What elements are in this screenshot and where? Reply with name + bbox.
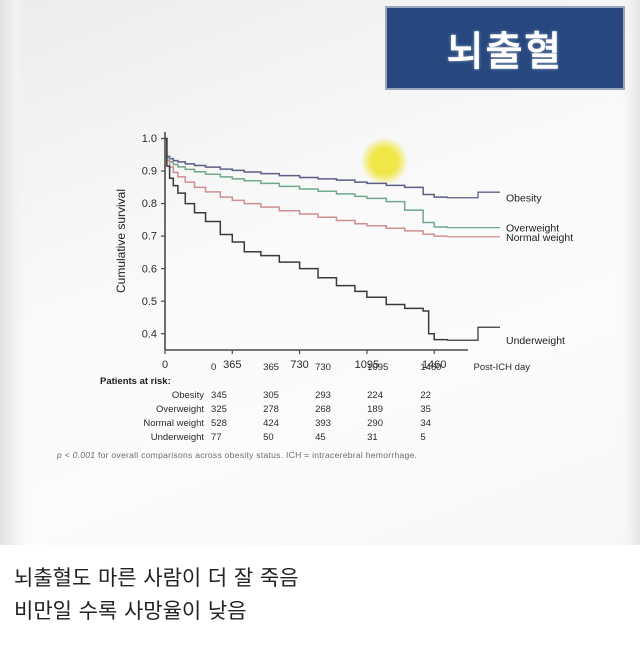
risk-underweight-1095: 31	[367, 430, 420, 444]
patients-at-risk-table: 0 365 730 1095 1460 Post-ICH day Patient…	[100, 360, 570, 444]
figure-card: 뇌출혈 0.40.50.60.70.80.91.0036573010951460…	[0, 0, 640, 545]
legend-leader-obesity	[447, 192, 500, 198]
risk-overweight-365: 278	[263, 402, 315, 416]
y-axis-title: Cumulative survival	[114, 189, 128, 293]
risk-obesity-1460: 22	[420, 388, 473, 402]
legend-leader-underweight	[447, 327, 500, 340]
patients-at-risk-title: Patients at risk:	[100, 374, 530, 388]
risk-underweight-pad	[474, 430, 531, 444]
y-tick-label: 0.4	[142, 328, 157, 340]
risk-header-spacer	[100, 360, 211, 374]
risk-underweight-730: 45	[315, 430, 367, 444]
post-ich-day-label: Post-ICH day	[474, 360, 531, 374]
risk-row-label-normal-weight: Normal weight	[100, 416, 211, 430]
risk-underweight-365: 50	[263, 430, 315, 444]
risk-obesity-730: 293	[315, 388, 367, 402]
risk-col-1460: 1460	[420, 360, 473, 374]
y-tick-label: 0.9	[142, 166, 157, 178]
table-row: Normal weight 528 424 393 290 34	[100, 416, 530, 430]
y-tick-label: 1.0	[142, 133, 157, 145]
risk-overweight-1095: 189	[367, 402, 420, 416]
y-tick-label: 0.5	[142, 296, 157, 308]
y-tick-label: 0.6	[142, 263, 157, 275]
risk-normal-365: 424	[263, 416, 315, 430]
risk-obesity-1095: 224	[367, 388, 420, 402]
risk-normal-1460: 34	[420, 416, 473, 430]
legend-label-obesity: Obesity	[506, 193, 542, 205]
risk-obesity-0: 345	[211, 388, 263, 402]
risk-obesity-365: 305	[263, 388, 315, 402]
footnote-rest: for overall comparisons across obesity s…	[95, 450, 417, 460]
screenshot-root: 뇌출혈 0.40.50.60.70.80.91.0036573010951460…	[0, 0, 640, 647]
risk-table-header-row: 0 365 730 1095 1460 Post-ICH day	[100, 360, 530, 374]
card-left-shade	[0, 0, 26, 545]
figure-footnote: p < 0.001 for overall comparisons across…	[57, 450, 577, 460]
topic-banner: 뇌출혈	[385, 6, 625, 90]
y-tick-label: 0.7	[142, 231, 157, 243]
table-row: Overweight 325 278 268 189 35	[100, 402, 530, 416]
risk-obesity-pad	[474, 388, 531, 402]
risk-overweight-730: 268	[315, 402, 367, 416]
risk-col-365: 365	[263, 360, 315, 374]
y-tick-label: 0.8	[142, 198, 157, 210]
legend-label-normal-weight: Normal weight	[506, 232, 573, 244]
risk-row-label-overweight: Overweight	[100, 402, 211, 416]
caption-line-2: 비만일 수록 사망율이 낮음	[14, 595, 626, 628]
post-caption: 뇌출혈도 마른 사람이 더 잘 죽음 비만일 수록 사망율이 낮음	[14, 562, 626, 628]
risk-normal-1095: 290	[367, 416, 420, 430]
risk-row-label-underweight: Underweight	[100, 430, 211, 444]
risk-normal-0: 528	[211, 416, 263, 430]
risk-normal-pad	[474, 416, 531, 430]
risk-underweight-1460: 5	[420, 430, 473, 444]
risk-overweight-1460: 35	[420, 402, 473, 416]
risk-row-label-obesity: Obesity	[100, 388, 211, 402]
risk-col-0: 0	[211, 360, 263, 374]
risk-col-1095: 1095	[367, 360, 420, 374]
highlight-circle	[360, 137, 408, 185]
risk-overweight-0: 325	[211, 402, 263, 416]
risk-normal-730: 393	[315, 416, 367, 430]
table-row: Underweight 77 50 45 31 5	[100, 430, 530, 444]
caption-line-1: 뇌출혈도 마른 사람이 더 잘 죽음	[14, 562, 626, 595]
topic-banner-title: 뇌출혈	[447, 19, 563, 77]
risk-underweight-0: 77	[211, 430, 263, 444]
risk-overweight-pad	[474, 402, 531, 416]
table-row: Obesity 345 305 293 224 22	[100, 388, 530, 402]
legend-label-underweight: Underweight	[506, 335, 565, 347]
risk-col-730: 730	[315, 360, 367, 374]
footnote-p-value: p < 0.001	[57, 450, 95, 460]
risk-table-title-row: Patients at risk:	[100, 374, 530, 388]
